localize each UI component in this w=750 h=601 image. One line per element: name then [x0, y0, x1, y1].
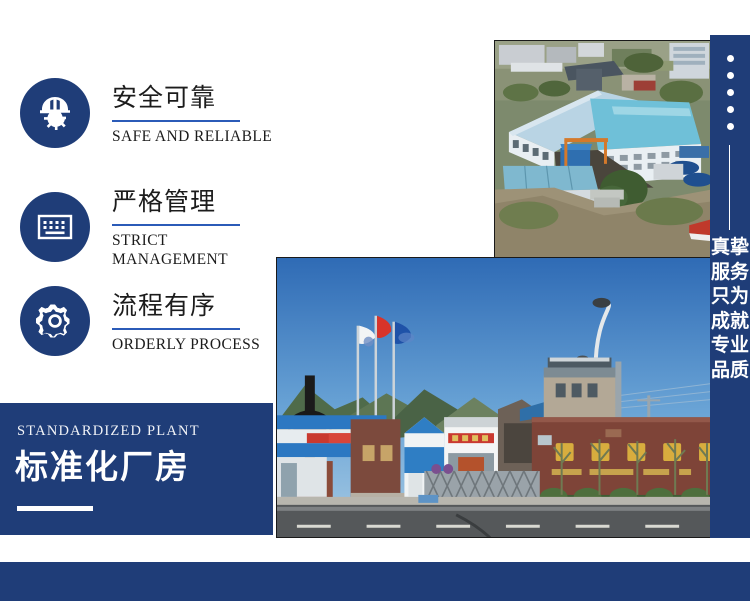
- banner-label-en: STANDARDIZED PLANT: [17, 423, 200, 440]
- feature-title-cn: 安全可靠: [112, 82, 272, 114]
- feature-text: 严格管理 STRICT MANAGEMENT: [112, 184, 276, 269]
- sidebar-dot: [727, 106, 734, 113]
- feature-item-strict-management[interactable]: 严格管理 STRICT MANAGEMENT: [20, 184, 276, 269]
- sidebar-dot-group: [710, 55, 750, 140]
- sidebar-slogan-vertical: 真挚服务只为成就专业品质: [710, 235, 750, 382]
- aerial-factory-photo: [494, 40, 712, 258]
- right-vertical-sidebar: 真挚服务只为成就专业品质: [710, 35, 750, 538]
- feature-text: 流程有序 ORDERLY PROCESS: [112, 288, 260, 354]
- feature-underline: [112, 328, 240, 330]
- gear-icon: [20, 286, 90, 356]
- safety-helmet-gear-icon: [20, 78, 90, 148]
- banner-label-cn: 标准化厂房: [15, 447, 190, 487]
- banner-underline: [17, 506, 93, 511]
- feature-underline: [112, 120, 240, 122]
- feature-title-en: SAFE AND RELIABLE: [112, 127, 272, 146]
- feature-title-cn: 流程有序: [112, 290, 260, 322]
- sidebar-dot: [727, 89, 734, 96]
- keyboard-icon: [20, 192, 90, 262]
- feature-title-en: ORDERLY PROCESS: [112, 335, 260, 354]
- feature-text: 安全可靠 SAFE AND RELIABLE: [112, 80, 272, 146]
- sidebar-vertical-rule: [729, 145, 730, 230]
- factory-gate-photo: [276, 257, 714, 538]
- standardized-plant-banner: STANDARDIZED PLANT 标准化厂房: [0, 403, 273, 535]
- feature-underline: [112, 224, 240, 226]
- sidebar-dot: [727, 55, 734, 62]
- sidebar-dot: [727, 72, 734, 79]
- sidebar-dot: [727, 123, 734, 130]
- feature-item-orderly-process[interactable]: 流程有序 ORDERLY PROCESS: [20, 286, 260, 356]
- promo-page: 安全可靠 SAFE AND RELIABLE: [0, 0, 750, 601]
- bottom-blue-bar: [0, 562, 750, 601]
- feature-item-safe-and-reliable[interactable]: 安全可靠 SAFE AND RELIABLE: [20, 78, 272, 148]
- feature-title-cn: 严格管理: [112, 186, 276, 218]
- feature-title-en: STRICT MANAGEMENT: [112, 231, 276, 269]
